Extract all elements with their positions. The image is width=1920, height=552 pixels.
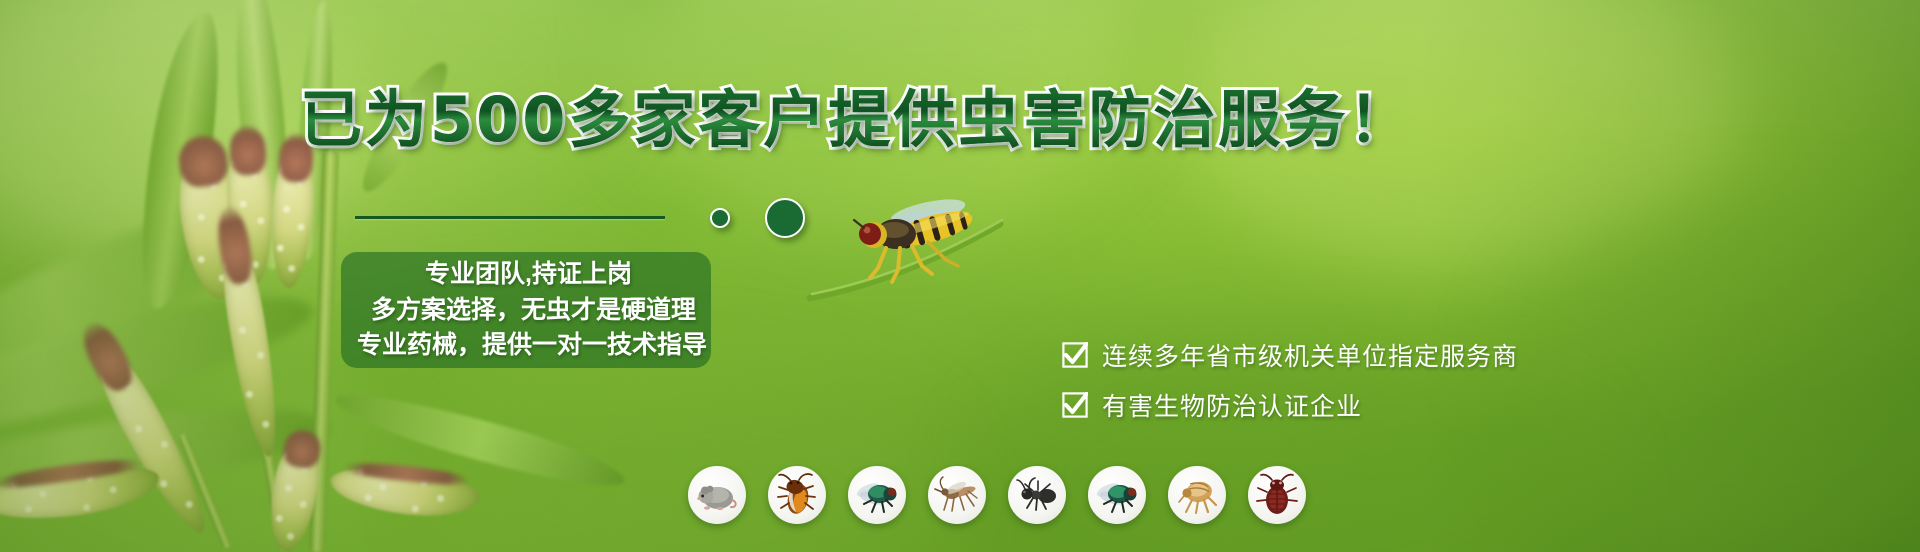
pest-icon-bedbug[interactable] [1248,466,1306,524]
pest-icon-blowfly[interactable] [1088,466,1146,524]
divider-line [355,216,665,219]
hoverfly-decoration [800,190,1060,310]
bullet-label: 连续多年省市级机关单位指定服务商 [1102,337,1518,373]
bedbug-icon [1254,472,1300,518]
pest-icon-mosquito[interactable] [928,466,986,524]
mosquito-icon [934,472,980,518]
pest-control-hero-banner: 已为500多家客户提供虫害防治服务！ 已为500多家客户提供虫害防治服务！ 专业… [0,0,1920,552]
certification-bullets: 连续多年省市级机关单位指定服务商 有害生物防治认证企业 [1062,330,1602,430]
bullet-item: 有害生物防治认证企业 [1062,380,1602,430]
cockroach-icon [774,472,820,518]
pest-icon-row [688,466,1306,524]
pest-icon-rat[interactable] [688,466,746,524]
pest-icon-flea[interactable] [1168,466,1226,524]
selling-points-panel [341,252,711,368]
flea-icon [1174,472,1220,518]
decorative-divider [355,196,825,240]
headline-text: 已为500多家客户提供虫害防治服务！ [300,69,1413,159]
blowfly-icon [1094,472,1140,518]
pest-icon-cockroach[interactable] [768,466,826,524]
hoverfly-icon [800,190,1060,310]
bullet-label: 有害生物防治认证企业 [1102,387,1362,423]
bullet-item: 连续多年省市级机关单位指定服务商 [1062,330,1602,380]
checkmark-icon [1062,392,1088,418]
rat-icon [694,472,740,518]
divider-small-dot-icon [710,208,730,228]
pest-icon-fly[interactable] [848,466,906,524]
headline: 已为500多家客户提供虫害防治服务！ 已为500多家客户提供虫害防治服务！ [300,78,1300,150]
divider-large-dot-icon [765,198,805,238]
ant-icon [1014,472,1060,518]
pest-icon-ant[interactable] [1008,466,1066,524]
fly-icon [854,472,900,518]
checkmark-icon [1062,342,1088,368]
